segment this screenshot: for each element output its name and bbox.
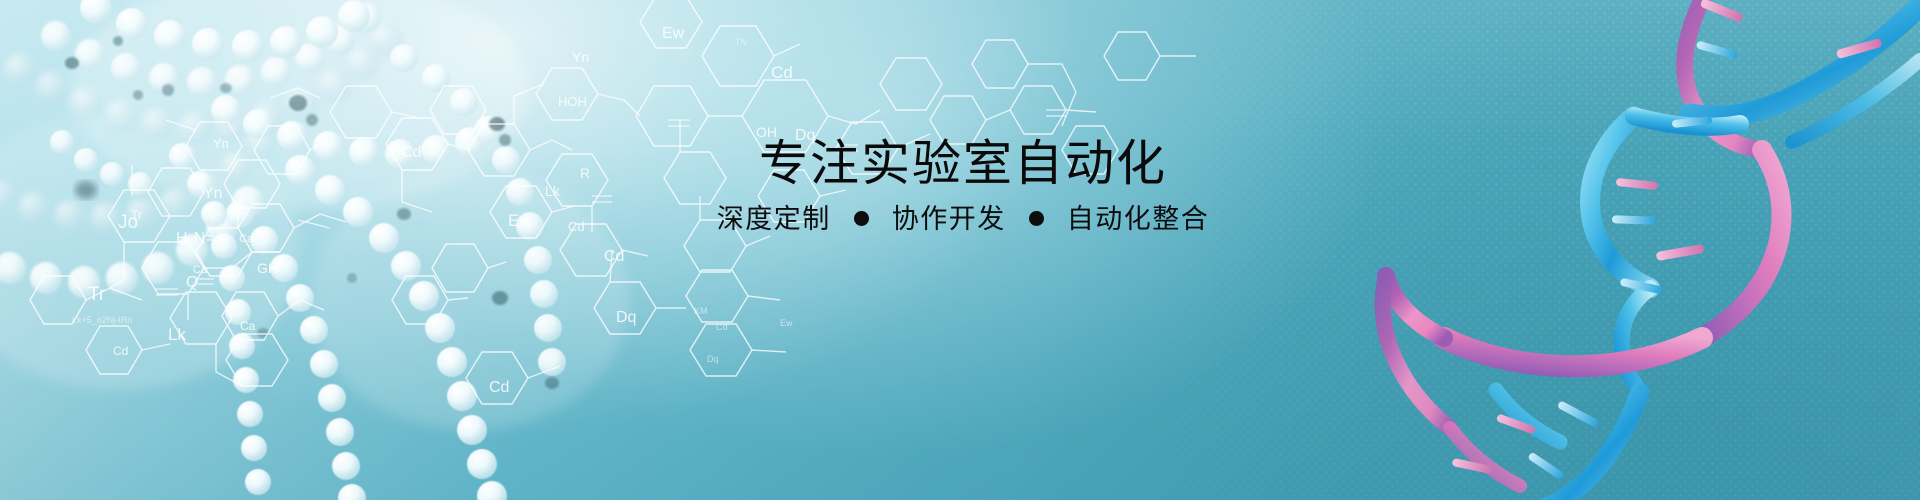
bullet-separator-icon: ● [1029, 211, 1044, 226]
banner-copy: 专注实验室自动化 深度定制 ● 协作开发 ● 自动化整合 [0, 138, 1920, 235]
banner-subtitle: 深度定制 ● 协作开发 ● 自动化整合 [0, 205, 1920, 235]
page-title: 专注实验室自动化 [0, 138, 1920, 191]
background-vignette [0, 0, 1920, 500]
subtitle-segment-2: 协作开发 [892, 205, 1006, 235]
bullet-separator-icon: ● [854, 211, 869, 226]
subtitle-segment-3: 自动化整合 [1067, 205, 1210, 235]
subtitle-segment-1: 深度定制 [717, 205, 831, 235]
hero-banner: TrLkJoTrH₂N=QLk+5_o2Nj-tRnCaGHCaYnYnCdCd… [0, 0, 1920, 500]
